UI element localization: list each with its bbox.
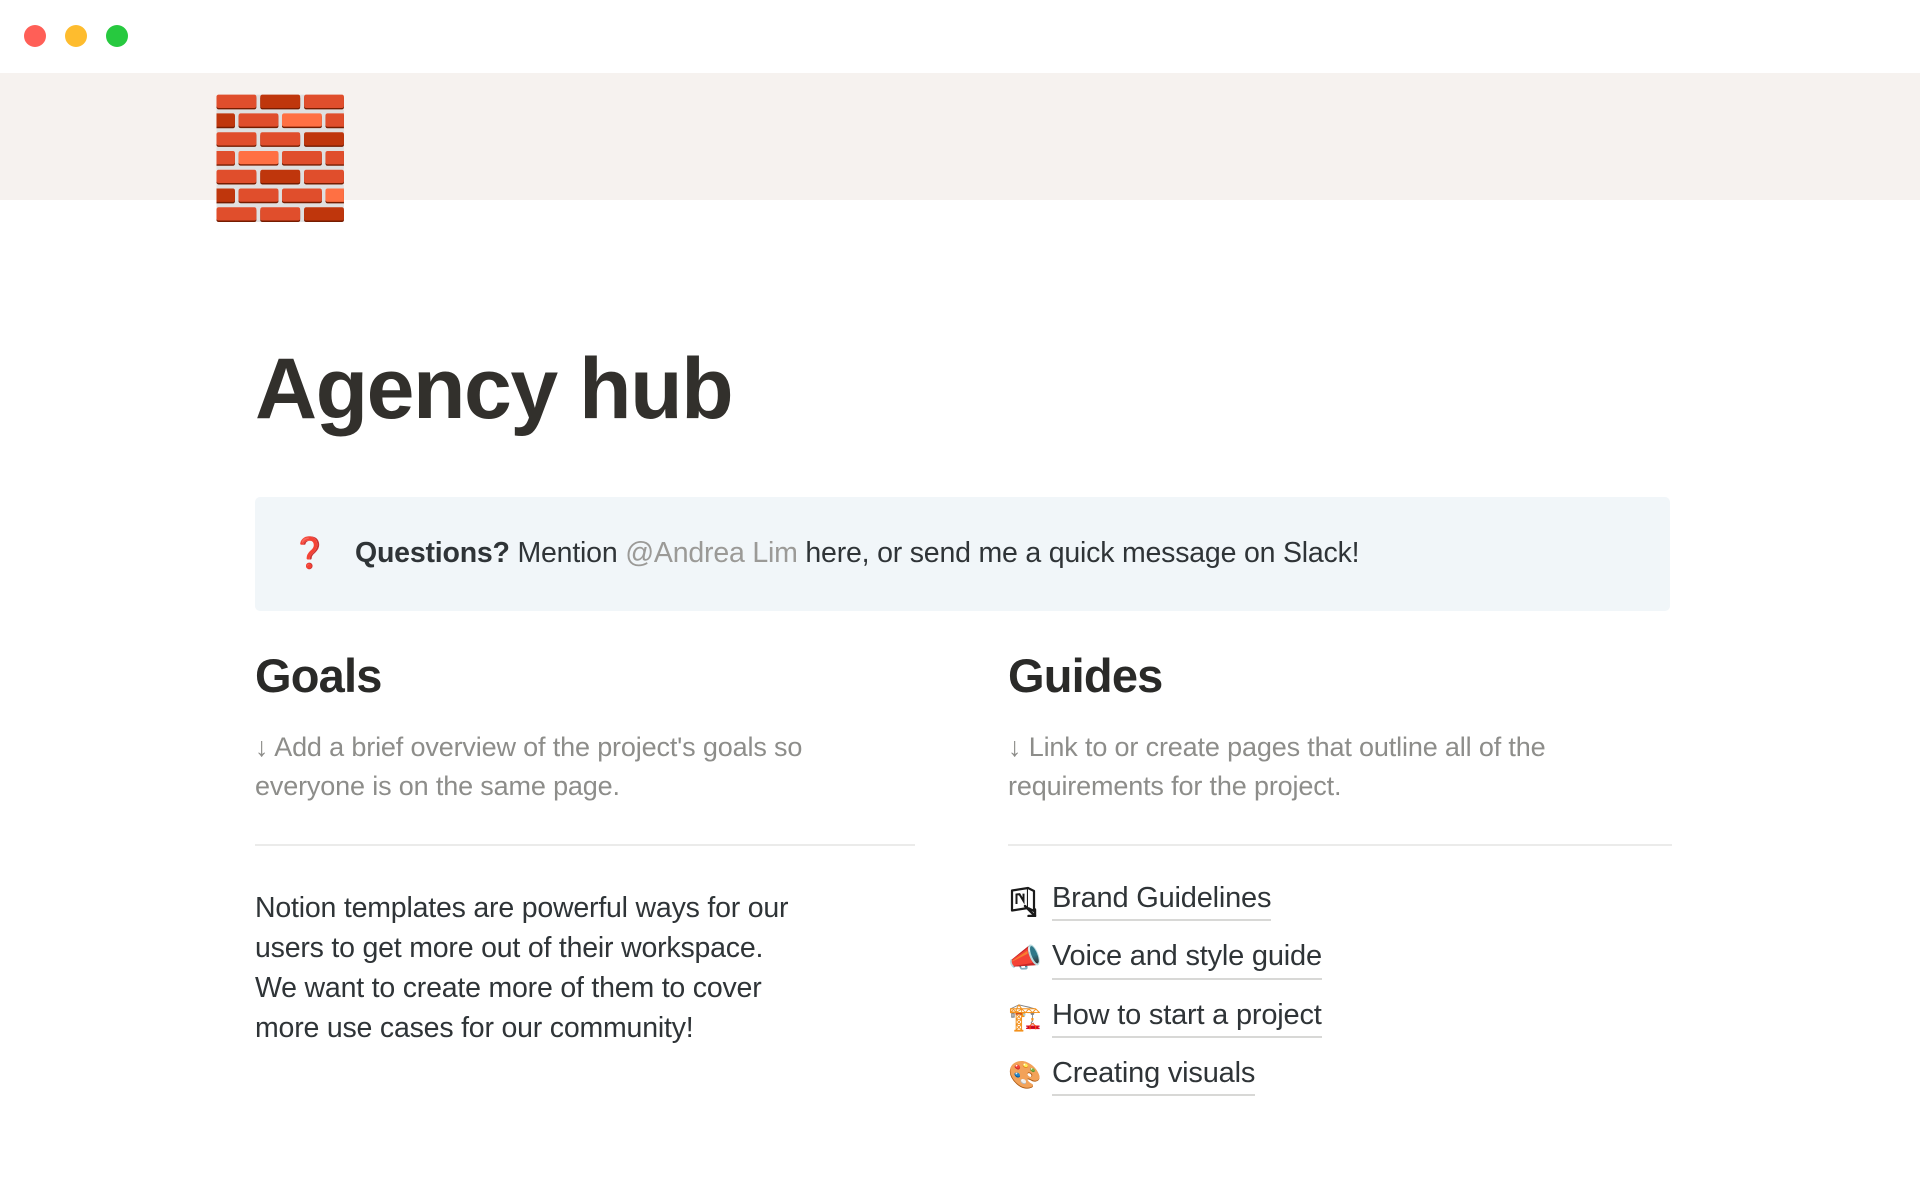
artist-palette-emoji: 🎨 <box>1008 1062 1040 1089</box>
list-item[interactable]: Brand Guidelines <box>1008 880 1271 921</box>
goals-caption[interactable]: ↓ Add a brief overview of the project's … <box>255 728 915 807</box>
list-item[interactable]: 📣 Voice and style guide <box>1008 938 1322 979</box>
close-window-button[interactable] <box>24 25 46 47</box>
goals-column: Goals ↓ Add a brief overview of the proj… <box>255 650 915 1096</box>
callout-text-before-mention: Mention <box>510 537 625 569</box>
list-item[interactable]: 🎨 Creating visuals <box>1008 1055 1255 1096</box>
red-question-mark-emoji: ❓ <box>291 539 325 569</box>
maximize-window-button[interactable] <box>106 25 128 47</box>
guides-caption[interactable]: ↓ Link to or create pages that outline a… <box>1008 728 1668 807</box>
questions-callout[interactable]: ❓ Questions? Mention @Andrea Lim here, o… <box>255 497 1670 611</box>
guides-heading[interactable]: Guides <box>1008 650 1672 702</box>
goals-heading[interactable]: Goals <box>255 650 915 702</box>
app-window: 🧱 Agency hub ❓ Questions? Mention @Andre… <box>0 0 1920 1200</box>
link-label[interactable]: How to start a project <box>1052 997 1322 1038</box>
guides-column: Guides ↓ Link to or create pages that ou… <box>1008 650 1672 1096</box>
page-title[interactable]: Agency hub <box>255 346 732 432</box>
megaphone-emoji: 📣 <box>1008 945 1040 972</box>
goals-divider <box>255 844 915 846</box>
two-column-section: Goals ↓ Add a brief overview of the proj… <box>0 650 1920 1096</box>
guides-link-list: Brand Guidelines 📣 Voice and style guide… <box>1008 880 1672 1096</box>
notion-page-link-icon <box>1008 885 1040 917</box>
window-controls <box>24 25 128 47</box>
list-item[interactable]: 🏗️ How to start a project <box>1008 997 1322 1038</box>
guides-divider <box>1008 844 1672 846</box>
link-label[interactable]: Creating visuals <box>1052 1055 1255 1096</box>
construction-crane-emoji: 🏗️ <box>1008 1004 1040 1031</box>
callout-bold-text: Questions? <box>355 537 510 569</box>
link-label[interactable]: Brand Guidelines <box>1052 880 1271 921</box>
callout-text-after-mention: here, or send me a quick message on Slac… <box>798 537 1360 569</box>
brick-emoji[interactable]: 🧱 <box>208 92 340 224</box>
goals-body-text[interactable]: Notion templates are powerful ways for o… <box>255 889 789 1049</box>
user-mention[interactable]: @Andrea Lim <box>625 537 797 569</box>
window-titlebar <box>0 0 1920 73</box>
link-label[interactable]: Voice and style guide <box>1052 938 1322 979</box>
callout-text: Questions? Mention @Andrea Lim here, or … <box>355 534 1359 574</box>
minimize-window-button[interactable] <box>65 25 87 47</box>
